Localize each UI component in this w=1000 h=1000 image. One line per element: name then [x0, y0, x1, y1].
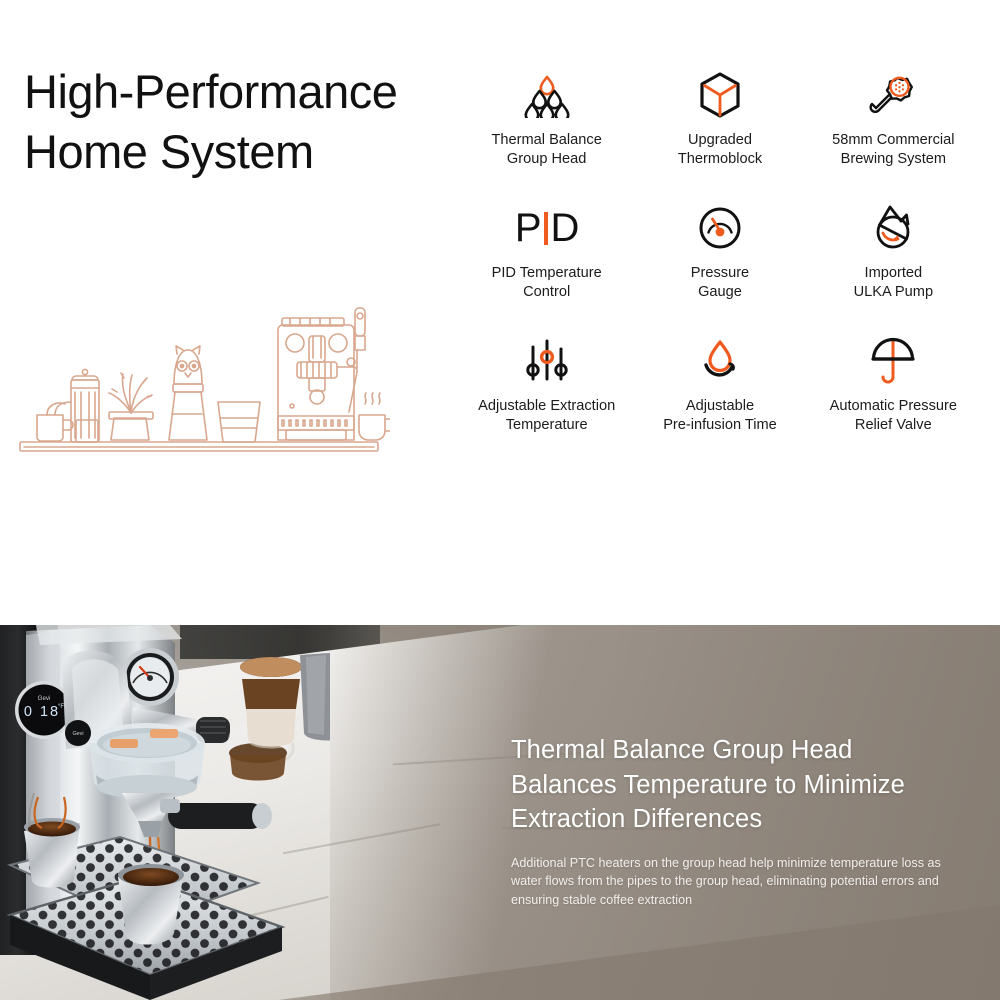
feature-thermal-balance-group-head[interactable]: Thermal Balance Group Head	[460, 60, 633, 193]
pid-letter-p: P	[515, 208, 541, 248]
cube-thermoblock-icon	[685, 66, 755, 124]
feature-label: Upgraded Thermoblock	[678, 131, 762, 170]
feature-grid: Thermal Balance Group Head	[460, 60, 980, 459]
espresso-machine-photo: Gevi 0 18 °F Gevi	[0, 625, 330, 1000]
features-section: High-Performance Home System	[0, 0, 1000, 625]
feature-label-line1: Automatic Pressure	[830, 398, 957, 414]
feature-label-line2: Relief Valve	[855, 417, 932, 433]
machine-display-value: 0 18	[24, 704, 60, 720]
hero-title-line2: Balances Temperature to Minimize	[511, 771, 905, 799]
feature-upgraded-thermoblock[interactable]: Upgraded Thermoblock	[633, 60, 806, 193]
hero-description: Additional PTC heaters on the group head…	[511, 854, 963, 909]
machine-brand-text: Gevi	[38, 695, 51, 702]
page-title: High-Performance Home System	[24, 62, 454, 182]
feature-label-line1: Upgraded	[688, 132, 752, 148]
feature-label-line1: PID Temperature	[492, 265, 602, 281]
feature-label-line1: Adjustable	[686, 398, 754, 414]
pressure-gauge-icon	[685, 199, 755, 257]
hero-title: Thermal Balance Group Head Balances Temp…	[511, 733, 981, 837]
pid-text-icon: P D	[512, 199, 582, 257]
feature-adjustable-extraction-temperature[interactable]: Adjustable Extraction Temperature	[460, 326, 633, 459]
ulka-pump-icon	[858, 199, 928, 257]
feature-label-line2: Pre-infusion Time	[663, 417, 777, 433]
feature-label-line2: Group Head	[507, 151, 587, 167]
feature-label-line1: Imported	[865, 265, 923, 281]
sliders-icon	[512, 332, 582, 390]
feature-label: Adjustable Pre-infusion Time	[663, 397, 777, 436]
hero-copy-block: Thermal Balance Group Head Balances Temp…	[511, 733, 981, 909]
feature-adjustable-preinfusion-time[interactable]: Adjustable Pre-infusion Time	[633, 326, 806, 459]
feature-label: 58mm Commercial Brewing System	[832, 131, 954, 170]
feature-pressure-gauge[interactable]: Pressure Gauge	[633, 193, 806, 326]
thermal-droplets-icon	[512, 66, 582, 124]
feature-label: PID Temperature Control	[492, 264, 602, 303]
hero-title-line1: Thermal Balance Group Head	[511, 736, 852, 764]
feature-label-line2: Gauge	[698, 284, 742, 300]
umbrella-relief-valve-icon	[858, 332, 928, 390]
feature-pid-temperature-control[interactable]: P D PID Temperature Control	[460, 193, 633, 326]
owl-figurine-illustration	[169, 346, 207, 440]
feature-label: Pressure Gauge	[691, 264, 749, 303]
droplet-preinfusion-icon	[685, 332, 755, 390]
feature-label-line1: 58mm Commercial	[832, 132, 954, 148]
espresso-machine-illustration	[278, 308, 365, 440]
feature-label: Adjustable Extraction Temperature	[478, 397, 615, 436]
feature-label-line1: Pressure	[691, 265, 749, 281]
feature-label-line1: Thermal Balance	[492, 132, 602, 148]
portafilter-icon	[858, 66, 928, 124]
shelf-illustration	[20, 442, 378, 451]
feature-label: Automatic Pressure Relief Valve	[830, 397, 957, 436]
mug-illustration	[37, 403, 73, 441]
feature-label-line2: Brewing System	[841, 151, 946, 167]
feature-label-line2: Control	[523, 284, 570, 300]
feature-label: Thermal Balance Group Head	[492, 131, 602, 170]
feature-imported-ulka-pump[interactable]: Imported ULKA Pump	[807, 193, 980, 326]
feature-label-line2: Thermoblock	[678, 151, 762, 167]
pid-accent-bar	[544, 212, 548, 245]
machine-display-unit: °F	[58, 704, 64, 710]
feature-58mm-brewing-system[interactable]: 58mm Commercial Brewing System	[807, 60, 980, 193]
feature-label-line2: Temperature	[506, 417, 588, 433]
svg-text:Gevi: Gevi	[72, 731, 83, 737]
product-feature-page: High-Performance Home System	[0, 0, 1000, 1000]
hero-title-line3: Extraction Differences	[511, 805, 762, 833]
glass-cup-illustration	[218, 402, 260, 442]
coffee-bar-line-art	[14, 292, 390, 470]
feature-label-line2: ULKA Pump	[854, 284, 934, 300]
feature-automatic-pressure-relief-valve[interactable]: Automatic Pressure Relief Valve	[807, 326, 980, 459]
feature-label: Imported ULKA Pump	[854, 264, 934, 303]
feature-label-line1: Adjustable Extraction	[478, 398, 615, 414]
potted-plant-illustration	[109, 373, 153, 440]
pid-letter-d: D	[551, 208, 579, 248]
french-press-illustration	[55, 369, 99, 442]
